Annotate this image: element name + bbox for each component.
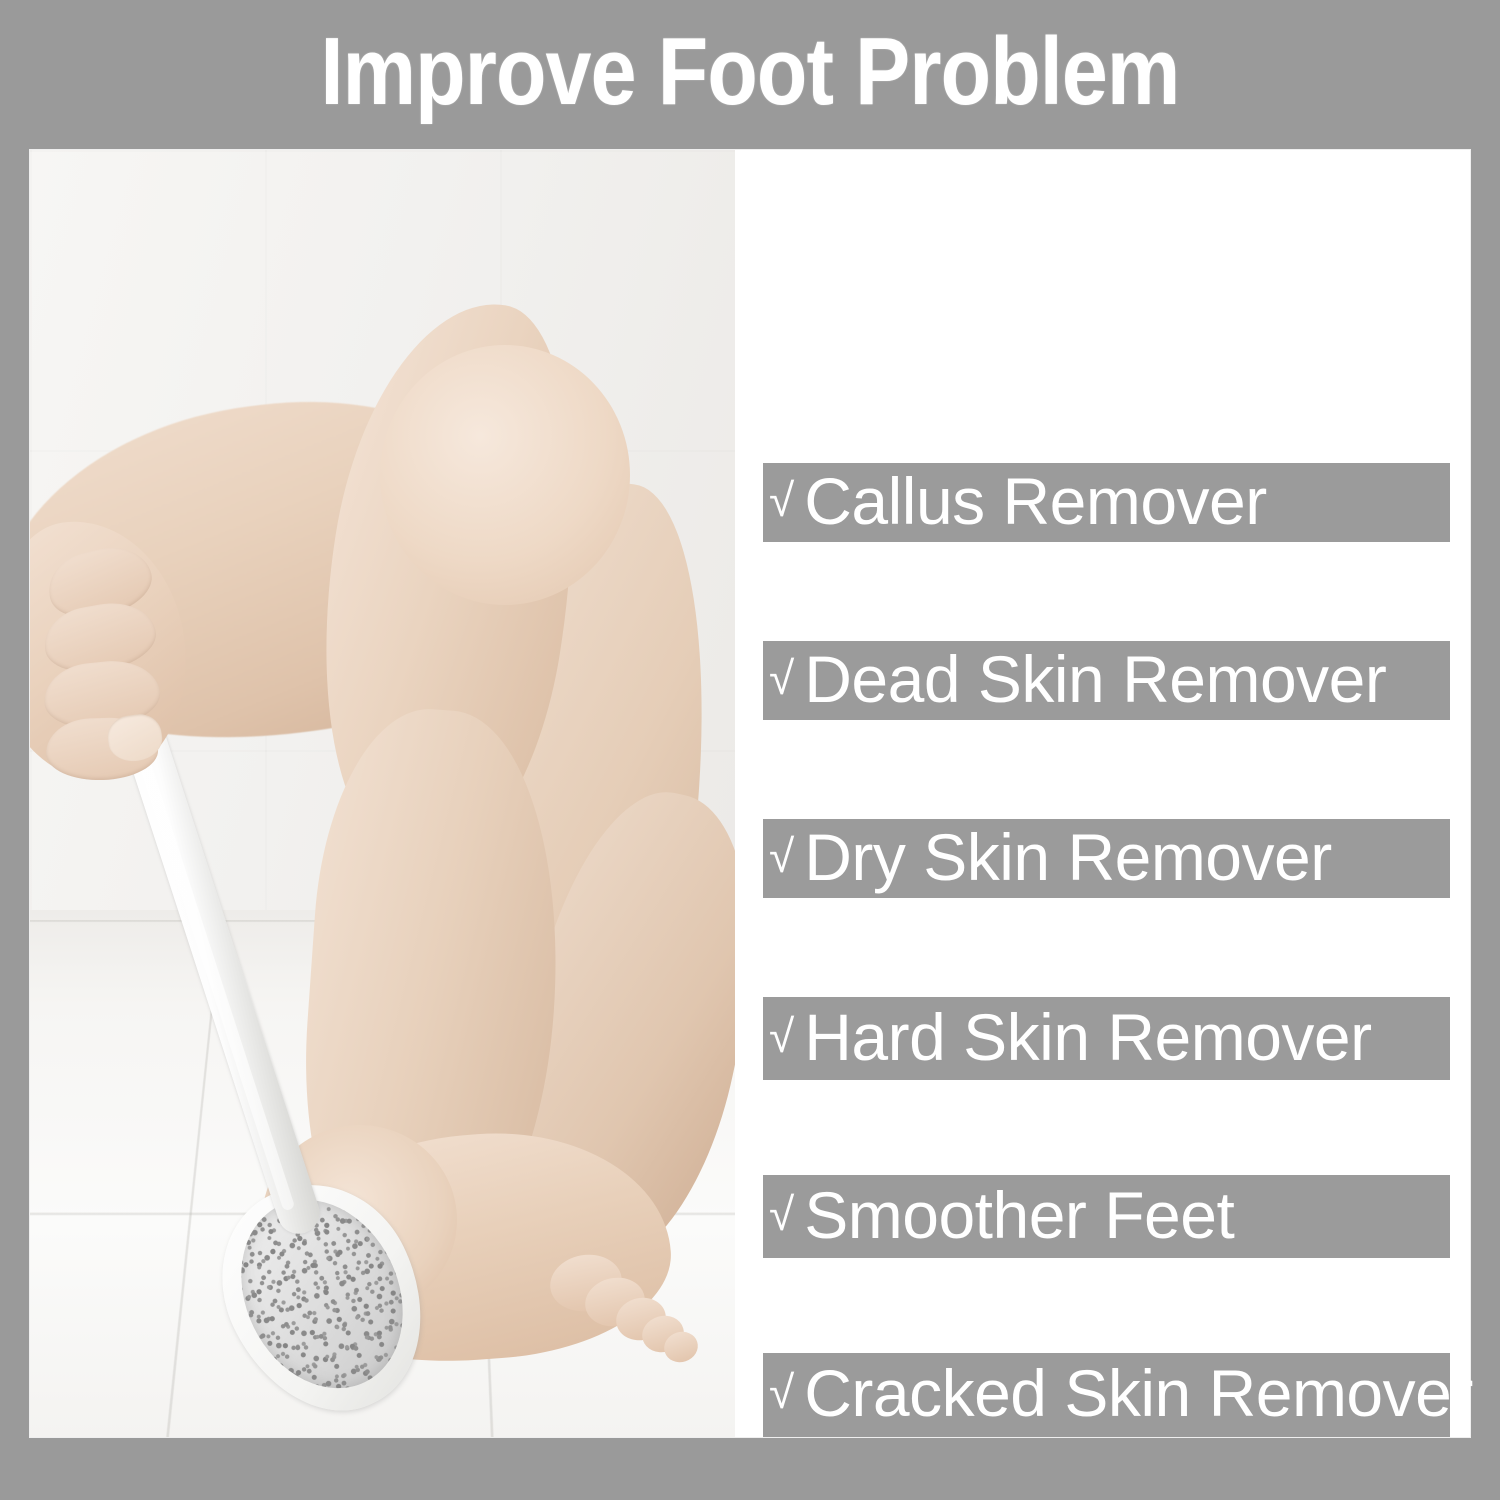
feature-label: Callus Remover: [804, 468, 1266, 534]
page-title: Improve Foot Problem: [105, 22, 1395, 123]
feature-item: √Smoother Feet: [763, 1175, 1450, 1258]
infographic-canvas: Improve Foot Problem: [0, 0, 1500, 1500]
feature-label: Cracked Skin Remover: [804, 1360, 1473, 1426]
feature-item: √Callus Remover: [763, 463, 1450, 542]
product-photo: [30, 150, 735, 1437]
check-icon: √: [769, 1369, 794, 1415]
knee-icon: [380, 345, 630, 605]
check-icon: √: [769, 833, 794, 879]
feature-item: √Cracked Skin Remover: [763, 1353, 1450, 1437]
feature-item: √Dead Skin Remover: [763, 641, 1450, 720]
feature-label: Smoother Feet: [804, 1182, 1234, 1248]
feature-label: Hard Skin Remover: [804, 1004, 1371, 1070]
feature-label: Dry Skin Remover: [804, 824, 1331, 890]
feature-item: √Dry Skin Remover: [763, 819, 1450, 898]
feature-item: √Hard Skin Remover: [763, 997, 1450, 1080]
check-icon: √: [769, 477, 794, 523]
check-icon: √: [769, 1191, 794, 1237]
content-frame: √Callus Remover√Dead Skin Remover√Dry Sk…: [30, 150, 1470, 1437]
check-icon: √: [769, 655, 794, 701]
feature-list: √Callus Remover√Dead Skin Remover√Dry Sk…: [735, 150, 1470, 1437]
feature-label: Dead Skin Remover: [804, 646, 1386, 712]
check-icon: √: [769, 1013, 794, 1059]
